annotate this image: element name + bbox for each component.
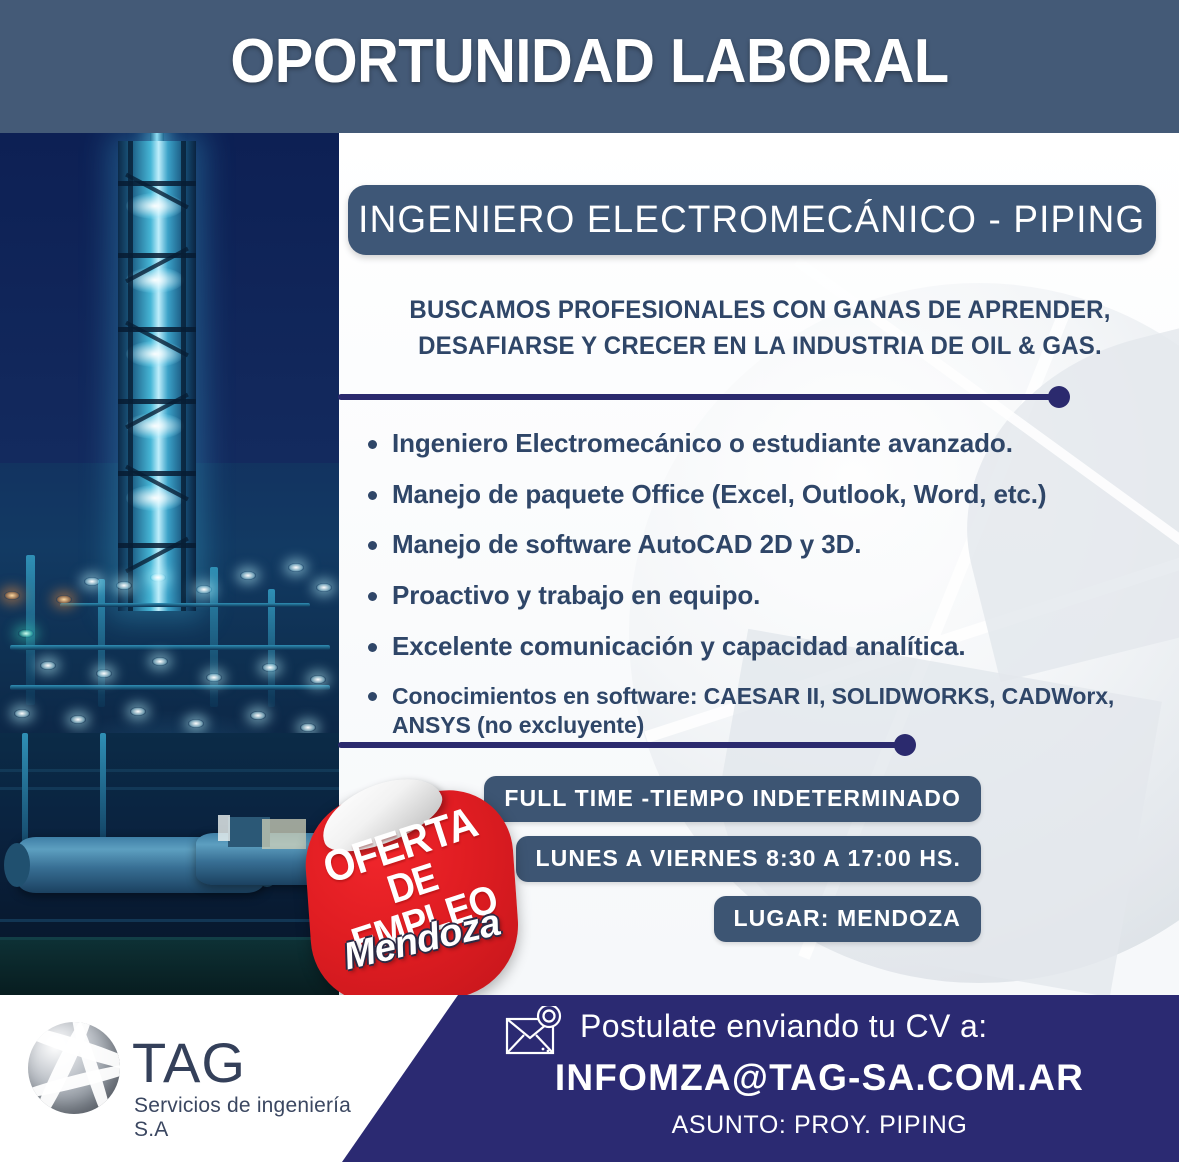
divider-dot-icon: [894, 734, 916, 756]
company-name: TAG: [132, 1030, 246, 1095]
job-title-pill: INGENIERO ELECTROMECÁNICO - PIPING: [348, 185, 1156, 255]
divider-bottom: [338, 742, 910, 748]
contact-subject: ASUNTO: PROY. PIPING: [460, 1111, 1179, 1140]
offer-sticker: OFERTA DE EMPLEO Mendoza: [308, 793, 516, 1001]
job-posting-poster: OPORTUNIDAD LABORAL: [0, 0, 1179, 1162]
divider-dot-icon: [1048, 386, 1070, 408]
tag-sphere-icon: [28, 1022, 120, 1114]
refinery-night-photo: [0, 133, 339, 995]
list-item-note: Conocimientos en software: CAESAR II, SO…: [360, 682, 1160, 742]
list-item: Manejo de paquete Office (Excel, Outlook…: [360, 479, 1160, 511]
status-badge-hours: LUNES A VIERNES 8:30 A 17:00 HS.: [516, 836, 981, 882]
list-item: Manejo de software AutoCAD 2D y 3D.: [360, 529, 1160, 561]
contact-email[interactable]: INFOMZA@TAG-SA.COM.AR: [460, 1057, 1179, 1099]
list-item: Ingeniero Electromecánico o estudiante a…: [360, 428, 1160, 460]
subtitle-line-1: BUSCAMOS PROFESIONALES CON GANAS DE APRE…: [376, 293, 1144, 329]
subtitle-line-2: DESAFIARSE Y CRECER EN LA INDUSTRIA DE O…: [376, 329, 1144, 365]
email-envelope-icon: [505, 1006, 563, 1056]
company-tagline: Servicios de ingeniería S.A: [134, 1094, 358, 1142]
process-units: [0, 533, 339, 763]
status-badge-schedule-type: FULL TIME -TIEMPO INDETERMINADO: [484, 776, 981, 822]
status-badge-location: LUGAR: MENDOZA: [714, 896, 982, 942]
divider-top: [338, 394, 1064, 400]
list-item: Excelente comunicación y capacidad analí…: [360, 631, 1160, 663]
page-title: OPORTUNIDAD LABORAL: [41, 26, 1137, 97]
header-banner: OPORTUNIDAD LABORAL: [0, 0, 1179, 133]
company-logo: TAG Servicios de ingeniería S.A: [28, 1014, 358, 1134]
job-title-text: INGENIERO ELECTROMECÁNICO - PIPING: [358, 199, 1145, 242]
job-subtitle: BUSCAMOS PROFESIONALES CON GANAS DE APRE…: [376, 293, 1144, 364]
contact-cta: Postulate enviando tu CV a:: [580, 1008, 1100, 1045]
rail-yard: [0, 733, 339, 995]
list-item: Proactivo y trabajo en equipo.: [360, 580, 1160, 612]
requirements-list: Ingeniero Electromecánico o estudiante a…: [360, 428, 1160, 760]
